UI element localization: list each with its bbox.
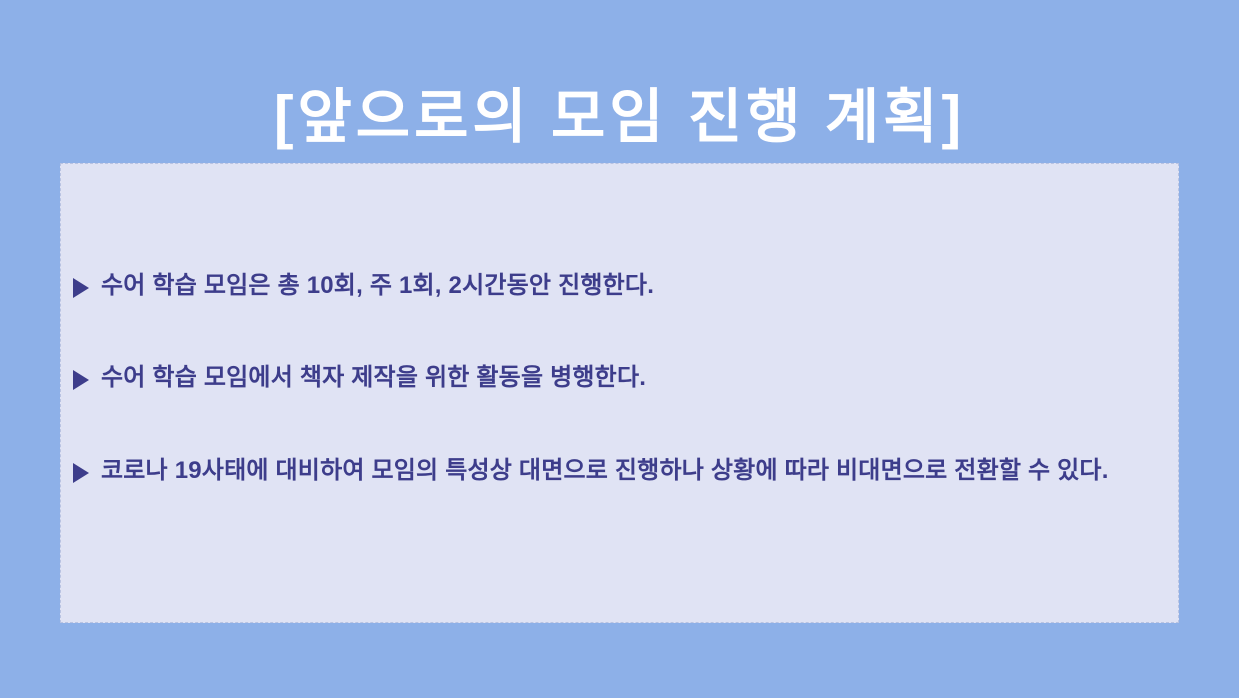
bullet-list: 수어 학습 모임은 총 10회, 주 1회, 2시간동안 진행한다. 수어 학습…: [73, 273, 1172, 484]
list-item-label: 수어 학습 모임에서 책자 제작을 위한 활동을 병행한다.: [101, 365, 1172, 391]
list-item: 코로나 19사태에 대비하여 모임의 특성상 대면으로 진행하나 상황에 따라 …: [73, 458, 1172, 484]
list-item-label: 코로나 19사태에 대비하여 모임의 특성상 대면으로 진행하나 상황에 따라 …: [101, 458, 1172, 484]
triangle-bullet-icon: [73, 370, 89, 390]
triangle-bullet-icon: [73, 278, 89, 298]
list-item: 수어 학습 모임은 총 10회, 주 1회, 2시간동안 진행한다.: [73, 273, 1172, 299]
triangle-bullet-icon: [73, 463, 89, 483]
content-panel: 수어 학습 모임은 총 10회, 주 1회, 2시간동안 진행한다. 수어 학습…: [60, 163, 1179, 623]
slide-canvas: [앞으로의 모임 진행 계획] 수어 학습 모임은 총 10회, 주 1회, 2…: [0, 0, 1239, 698]
list-item: 수어 학습 모임에서 책자 제작을 위한 활동을 병행한다.: [73, 365, 1172, 391]
list-item-label: 수어 학습 모임은 총 10회, 주 1회, 2시간동안 진행한다.: [101, 273, 1172, 299]
page-title: [앞으로의 모임 진행 계획]: [0, 86, 1239, 150]
